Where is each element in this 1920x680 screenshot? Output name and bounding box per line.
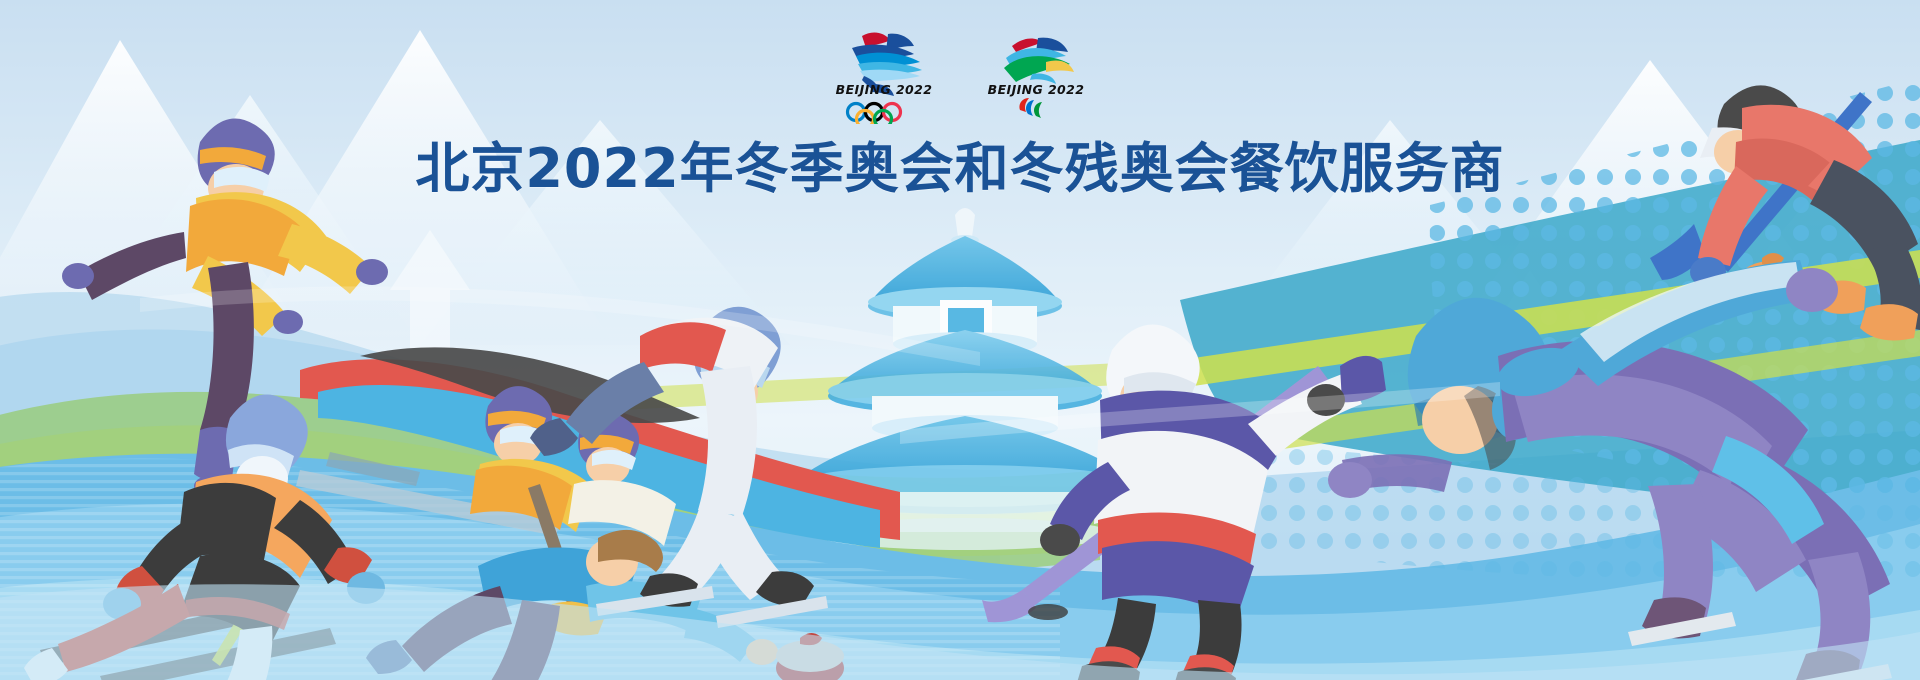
olympic-banner: BEIJING 2022 BEIJING 2022 北京2022年冬季奥会和冬残 <box>0 0 1920 680</box>
emblem-row: BEIJING 2022 BEIJING 2022 <box>0 24 1920 124</box>
paralympic-emblem: BEIJING 2022 <box>982 24 1090 124</box>
page-title: 北京2022年冬季奥会和冬残奥会餐饮服务商 <box>0 124 1920 203</box>
paralympic-emblem-wordmark: BEIJING 2022 <box>982 82 1090 97</box>
olympic-emblem-wordmark: BEIJING 2022 <box>830 82 938 97</box>
paralympic-emblem-icon <box>982 24 1090 124</box>
olympic-emblem: BEIJING 2022 <box>830 24 938 124</box>
olympic-emblem-icon <box>830 24 938 124</box>
